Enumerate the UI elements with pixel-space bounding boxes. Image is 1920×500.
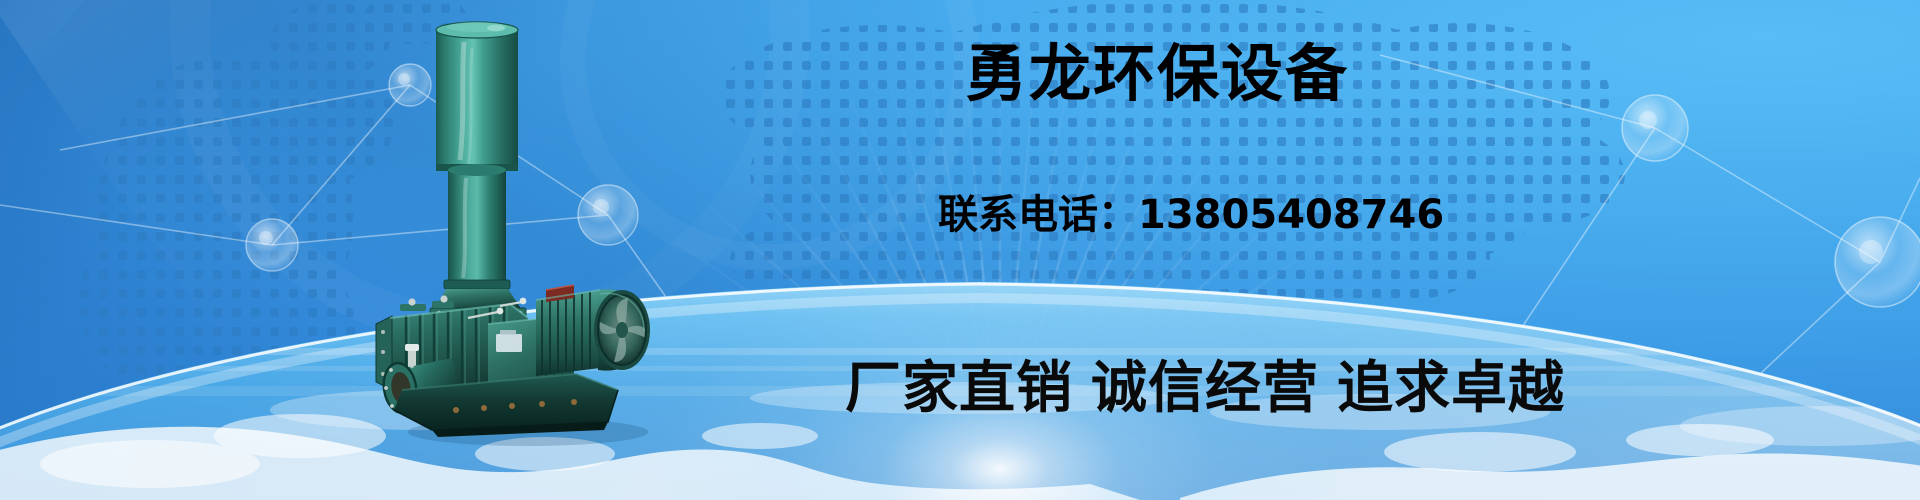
slogan-part-2: 诚信经营 bbox=[1091, 356, 1319, 421]
slogan: 厂家直销诚信经营追求卓越 bbox=[845, 358, 1565, 420]
company-title: 勇龙环保设备 bbox=[965, 40, 1349, 108]
promo-banner: 勇龙环保设备 联系电话：13805408746 厂家直销诚信经营追求卓越 bbox=[0, 0, 1920, 500]
slogan-part-3: 追求卓越 bbox=[1337, 356, 1565, 421]
slogan-part-1: 厂家直销 bbox=[845, 356, 1073, 421]
text-layer: 勇龙环保设备 联系电话：13805408746 厂家直销诚信经营追求卓越 bbox=[0, 0, 1920, 500]
contact-phone-line: 联系电话：13805408746 bbox=[938, 192, 1444, 238]
